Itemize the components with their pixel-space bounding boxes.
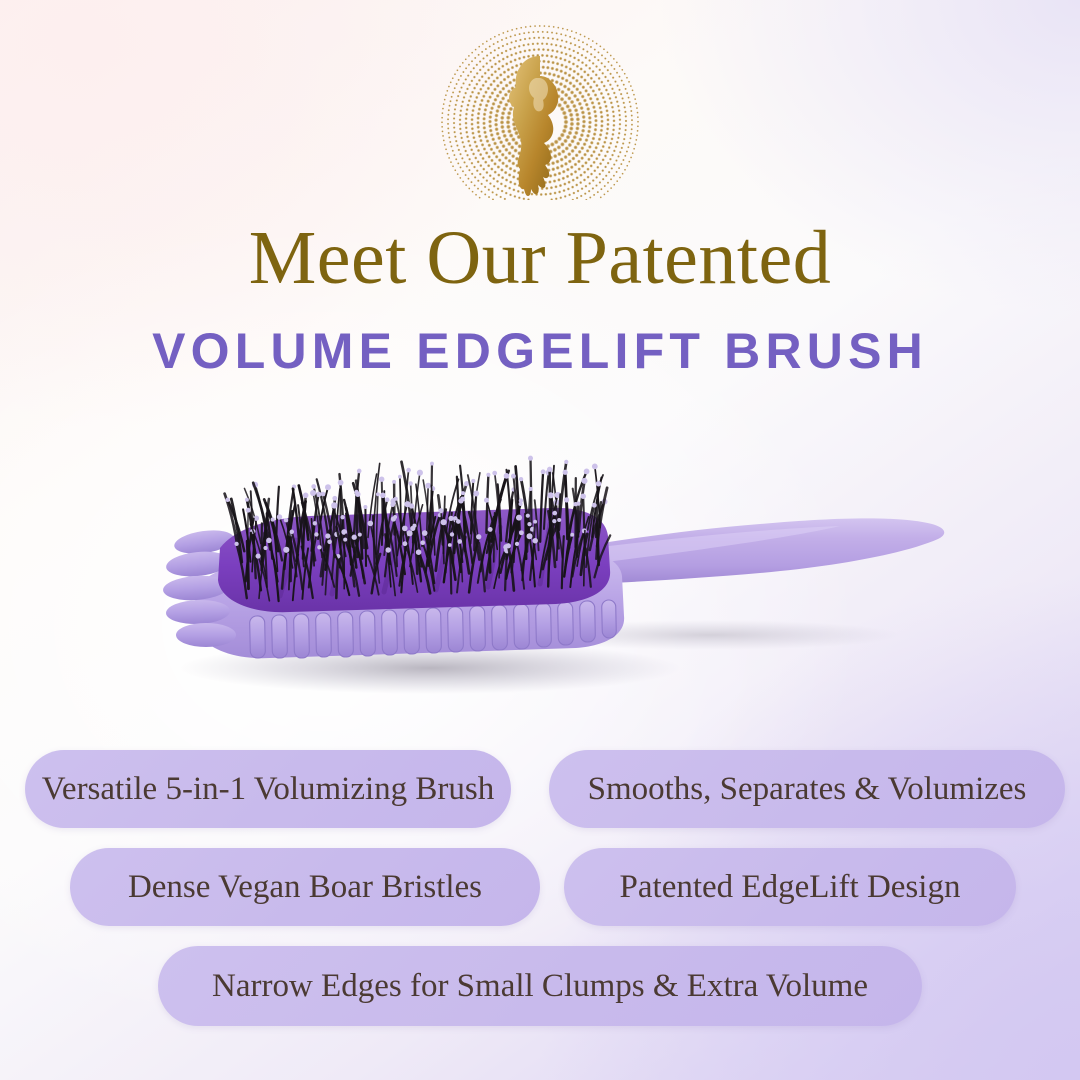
page-title: Meet Our Patented [0,216,1080,300]
feature-pill-narrow-edges: Narrow Edges for Small Clumps & Extra Vo… [158,946,922,1026]
feature-label: Versatile 5-in-1 Volumizing Brush [42,771,495,807]
feature-pill-edgelift: Patented EdgeLift Design [564,848,1016,926]
product-image [100,420,1000,720]
feature-pill-bristles: Dense Vegan Boar Bristles [70,848,540,926]
feature-label: Dense Vegan Boar Bristles [128,869,482,905]
feature-label: Smooths, Separates & Volumizes [588,771,1027,807]
feature-label: Patented EdgeLift Design [620,869,961,905]
feature-pill-smooths: Smooths, Separates & Volumizes [549,750,1065,828]
feature-pill-versatile: Versatile 5-in-1 Volumizing Brush [25,750,511,828]
brand-logo [440,22,640,200]
feature-label: Narrow Edges for Small Clumps & Extra Vo… [212,968,868,1004]
promo-canvas: Meet Our Patented VOLUME EDGELIFT BRUSH [0,0,1080,1080]
page-subtitle: VOLUME EDGELIFT BRUSH [0,322,1080,380]
